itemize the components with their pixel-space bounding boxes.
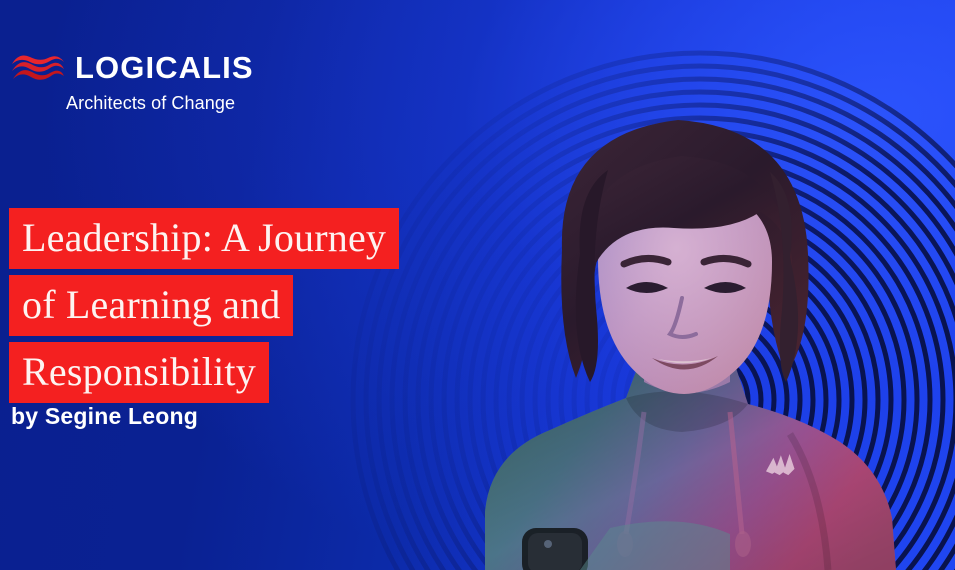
title-card-slide: LOGICALIS Architects of Change Leadershi… bbox=[0, 0, 955, 570]
title-line-1: Leadership: A Journey bbox=[9, 208, 399, 269]
logicalis-wordmark: LOGICALIS bbox=[75, 52, 254, 83]
logicalis-wave-mark-icon bbox=[10, 50, 66, 84]
byline-author: by Segine Leong bbox=[11, 403, 198, 430]
title-line-3: Responsibility bbox=[9, 342, 269, 403]
speaker-portrait bbox=[430, 82, 930, 570]
logicalis-tagline: Architects of Change bbox=[66, 93, 310, 114]
page-title: Leadership: A Journey of Learning and Re… bbox=[9, 208, 399, 409]
logicalis-logo: LOGICALIS Architects of Change bbox=[10, 50, 310, 114]
smartwatch bbox=[522, 528, 588, 570]
title-line-2: of Learning and bbox=[9, 275, 293, 336]
